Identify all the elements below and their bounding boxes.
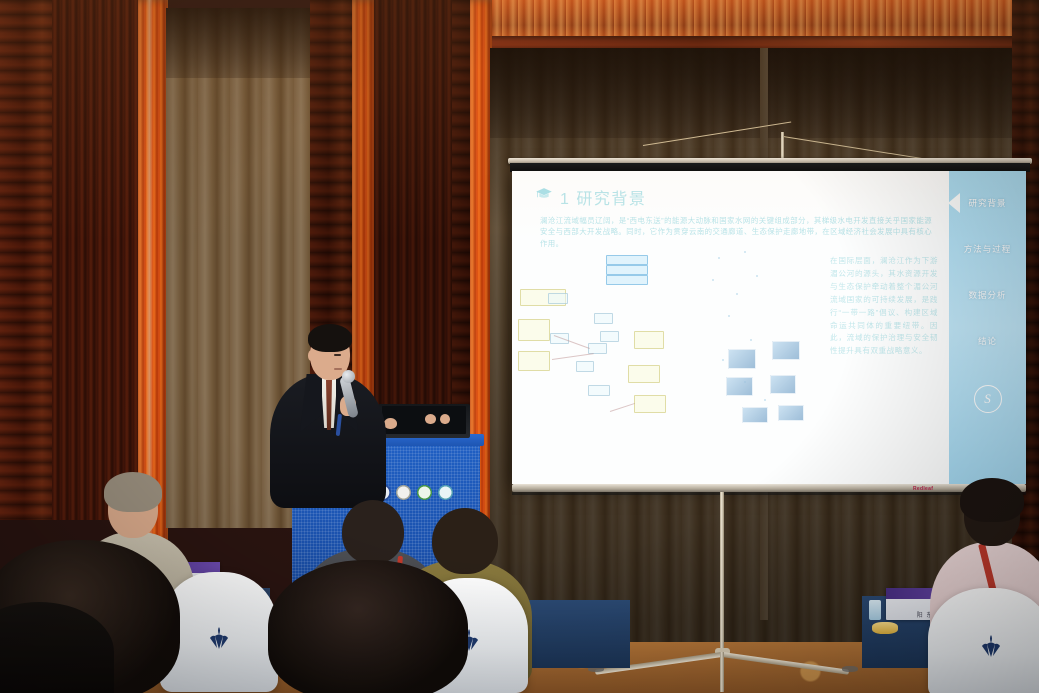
map-thumbnail xyxy=(770,375,796,394)
chair-right xyxy=(928,588,1039,693)
attendee-hair xyxy=(960,478,1024,522)
conference-room-photo: 1 研究背景 澜沧江流域幅员辽阔，是“西电东送”的能源大动脉和国家水网的关键组成… xyxy=(0,0,1039,693)
pillar-left xyxy=(138,0,168,540)
projection-surface: 1 研究背景 澜沧江流域幅员辽阔，是“西电东送”的能源大动脉和国家水网的关键组成… xyxy=(512,171,1026,484)
map-dot xyxy=(728,315,730,317)
map-dot xyxy=(736,293,738,295)
speaker-eye xyxy=(334,354,341,356)
diagram-node xyxy=(634,395,666,413)
attendee-front-center xyxy=(268,560,478,693)
wall-slats-left xyxy=(52,0,144,520)
attendee-front-far-left xyxy=(0,602,114,693)
water-bottle xyxy=(869,600,881,620)
presentation-slide: 1 研究背景 澜沧江流域幅员辽阔，是“西电东送”的能源大动脉和国家水网的关键组成… xyxy=(512,171,1026,484)
diagram-node xyxy=(594,313,613,324)
slide-title: 1 研究背景 xyxy=(560,185,646,209)
pillar-left-highlight xyxy=(146,0,153,540)
map-dot xyxy=(756,275,758,277)
map-dot xyxy=(750,339,752,341)
map-dot xyxy=(744,251,746,253)
attendee-hair xyxy=(104,472,162,512)
screen-center-post xyxy=(781,132,784,158)
map-dot xyxy=(718,257,720,259)
speaker-ear xyxy=(308,350,315,361)
tripod-leg-front xyxy=(720,652,724,692)
map-thumbnail xyxy=(772,341,800,360)
map-dot xyxy=(764,399,766,401)
speaker-mouth xyxy=(334,368,342,370)
diagram-node xyxy=(600,331,619,342)
map-dot xyxy=(722,359,724,361)
diagram-node xyxy=(606,265,648,275)
sidebar-item-conclusion[interactable]: 结论 xyxy=(949,335,1026,347)
diagram-node xyxy=(588,343,607,354)
diagram-node xyxy=(518,319,550,341)
organization-logo: S xyxy=(974,385,1002,413)
attendee-hair xyxy=(268,560,468,693)
map-thumbnail xyxy=(726,377,753,396)
hand-on-laptop-extra xyxy=(440,414,450,424)
slide-sidebar: 研究背景 方法与过程 数据分析 结论 S xyxy=(949,171,1026,484)
map-thumbnail xyxy=(778,405,804,421)
diagram-node xyxy=(576,361,594,372)
tripod-foot-right xyxy=(842,666,858,672)
diagram-node xyxy=(606,255,648,265)
sidebar-item-research-background[interactable]: 研究背景 xyxy=(949,197,1026,209)
hand-on-laptop-right xyxy=(425,414,436,424)
curtain-left-top-shadow xyxy=(166,8,314,78)
map-dot xyxy=(712,279,714,281)
diagram-node xyxy=(518,351,550,371)
map-thumbnail xyxy=(742,407,768,423)
wall-panel-far-left xyxy=(0,0,60,520)
diagram-node xyxy=(628,365,660,383)
slide-paragraph-right: 在国际层面，澜沧江作为下游湄公河的源头，其水资源开发与生态保护牵动着整个湄公河流… xyxy=(830,255,938,358)
diagram-node xyxy=(588,385,610,396)
snack-item xyxy=(872,622,898,634)
slide-map xyxy=(698,249,828,449)
microphone-head xyxy=(342,370,355,383)
slide-paragraph-top: 澜沧江流域幅员辽阔，是“西电东送”的能源大动脉和国家水网的关键组成部分，其梯级水… xyxy=(540,215,932,249)
diagram-node xyxy=(606,275,648,285)
speaker-hair xyxy=(308,324,352,352)
tripod-pole xyxy=(720,492,724,654)
sidebar-item-methods-process[interactable]: 方法与过程 xyxy=(949,243,1026,255)
map-thumbnail xyxy=(728,349,756,369)
chair-fan-emblem xyxy=(978,634,1004,658)
diagram-node xyxy=(548,293,568,304)
diagram-connector xyxy=(610,403,635,412)
diagram-connector xyxy=(552,353,594,360)
attendee-body xyxy=(0,602,114,693)
speaker xyxy=(268,318,398,508)
graduation-cap-icon xyxy=(534,187,554,201)
sidebar-item-data-analysis[interactable]: 数据分析 xyxy=(949,289,1026,301)
diagram-node xyxy=(634,331,664,349)
